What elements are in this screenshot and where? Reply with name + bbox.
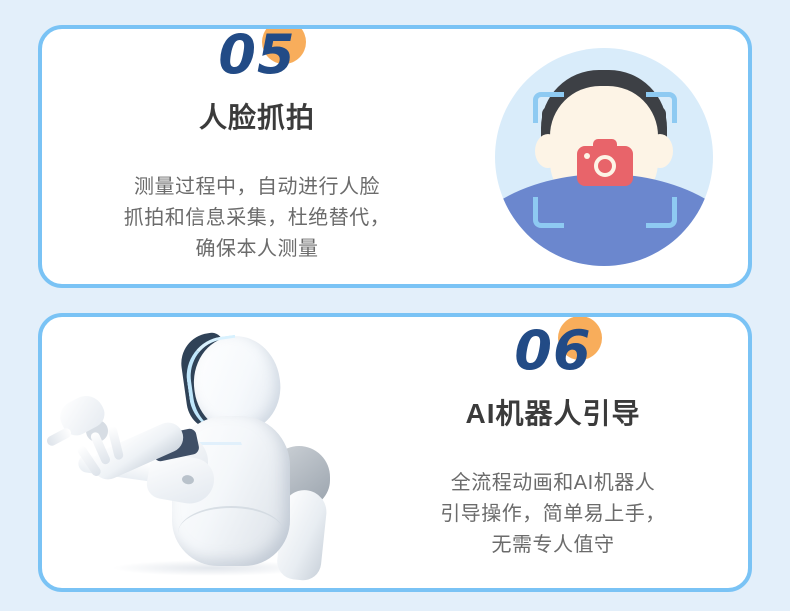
card-2-title: AI机器人引导 xyxy=(465,392,640,432)
card-1-text-column: 05 人脸抓拍 测量过程中，自动进行人脸 抓拍和信息采集，杜绝替代， 确保本人测… xyxy=(42,29,462,284)
face-capture-illustration xyxy=(489,48,721,266)
card-2-description: 全流程动画和AI机器人 引导操作，简单易上手， 无需专人值守 xyxy=(440,468,666,561)
feature-card-ai-robot: 06 AI机器人引导 全流程动画和AI机器人 引导操作，简单易上手， 无需专人值… xyxy=(38,313,752,592)
robot-thumb xyxy=(45,426,73,447)
card-1-number: 05 xyxy=(218,25,295,86)
card-2-text-column: 06 AI机器人引导 全流程动画和AI机器人 引导操作，简单易上手， 无需专人值… xyxy=(372,317,748,588)
promo-page: 05 人脸抓拍 测量过程中，自动进行人脸 抓拍和信息采集，杜绝替代， 确保本人测… xyxy=(0,0,790,611)
card-2-number-badge: 06 xyxy=(514,324,591,378)
face-detect-bracket-bottom-left-icon xyxy=(533,197,564,228)
ai-robot-illustration xyxy=(52,328,362,578)
card-1-title: 人脸抓拍 xyxy=(199,96,315,136)
shirt-shape xyxy=(495,174,713,266)
card-2-inner: 06 AI机器人引导 全流程动画和AI机器人 引导操作，简单易上手， 无需专人值… xyxy=(42,317,748,588)
robot-hand-detail xyxy=(181,474,194,485)
card-1-inner: 05 人脸抓拍 测量过程中，自动进行人脸 抓拍和信息采集，杜绝替代， 确保本人测… xyxy=(42,29,748,284)
face-detect-bracket-bottom-right-icon xyxy=(646,197,677,228)
card-2-number: 06 xyxy=(514,319,591,382)
card-1-number-badge: 05 xyxy=(218,28,295,82)
card-1-description: 测量过程中，自动进行人脸 抓拍和信息采集，杜绝替代， 确保本人测量 xyxy=(124,172,391,265)
card-2-illustration xyxy=(42,317,372,588)
camera-icon xyxy=(577,146,633,186)
feature-card-face-capture: 05 人脸抓拍 测量过程中，自动进行人脸 抓拍和信息采集，杜绝替代， 确保本人测… xyxy=(38,25,752,288)
face-detect-bracket-top-left-icon xyxy=(533,92,564,123)
card-1-illustration xyxy=(462,29,748,284)
camera-lens xyxy=(594,155,616,177)
robot-torso-seam xyxy=(178,506,284,560)
face-detect-bracket-top-right-icon xyxy=(646,92,677,123)
camera-flash-dot xyxy=(584,153,590,159)
